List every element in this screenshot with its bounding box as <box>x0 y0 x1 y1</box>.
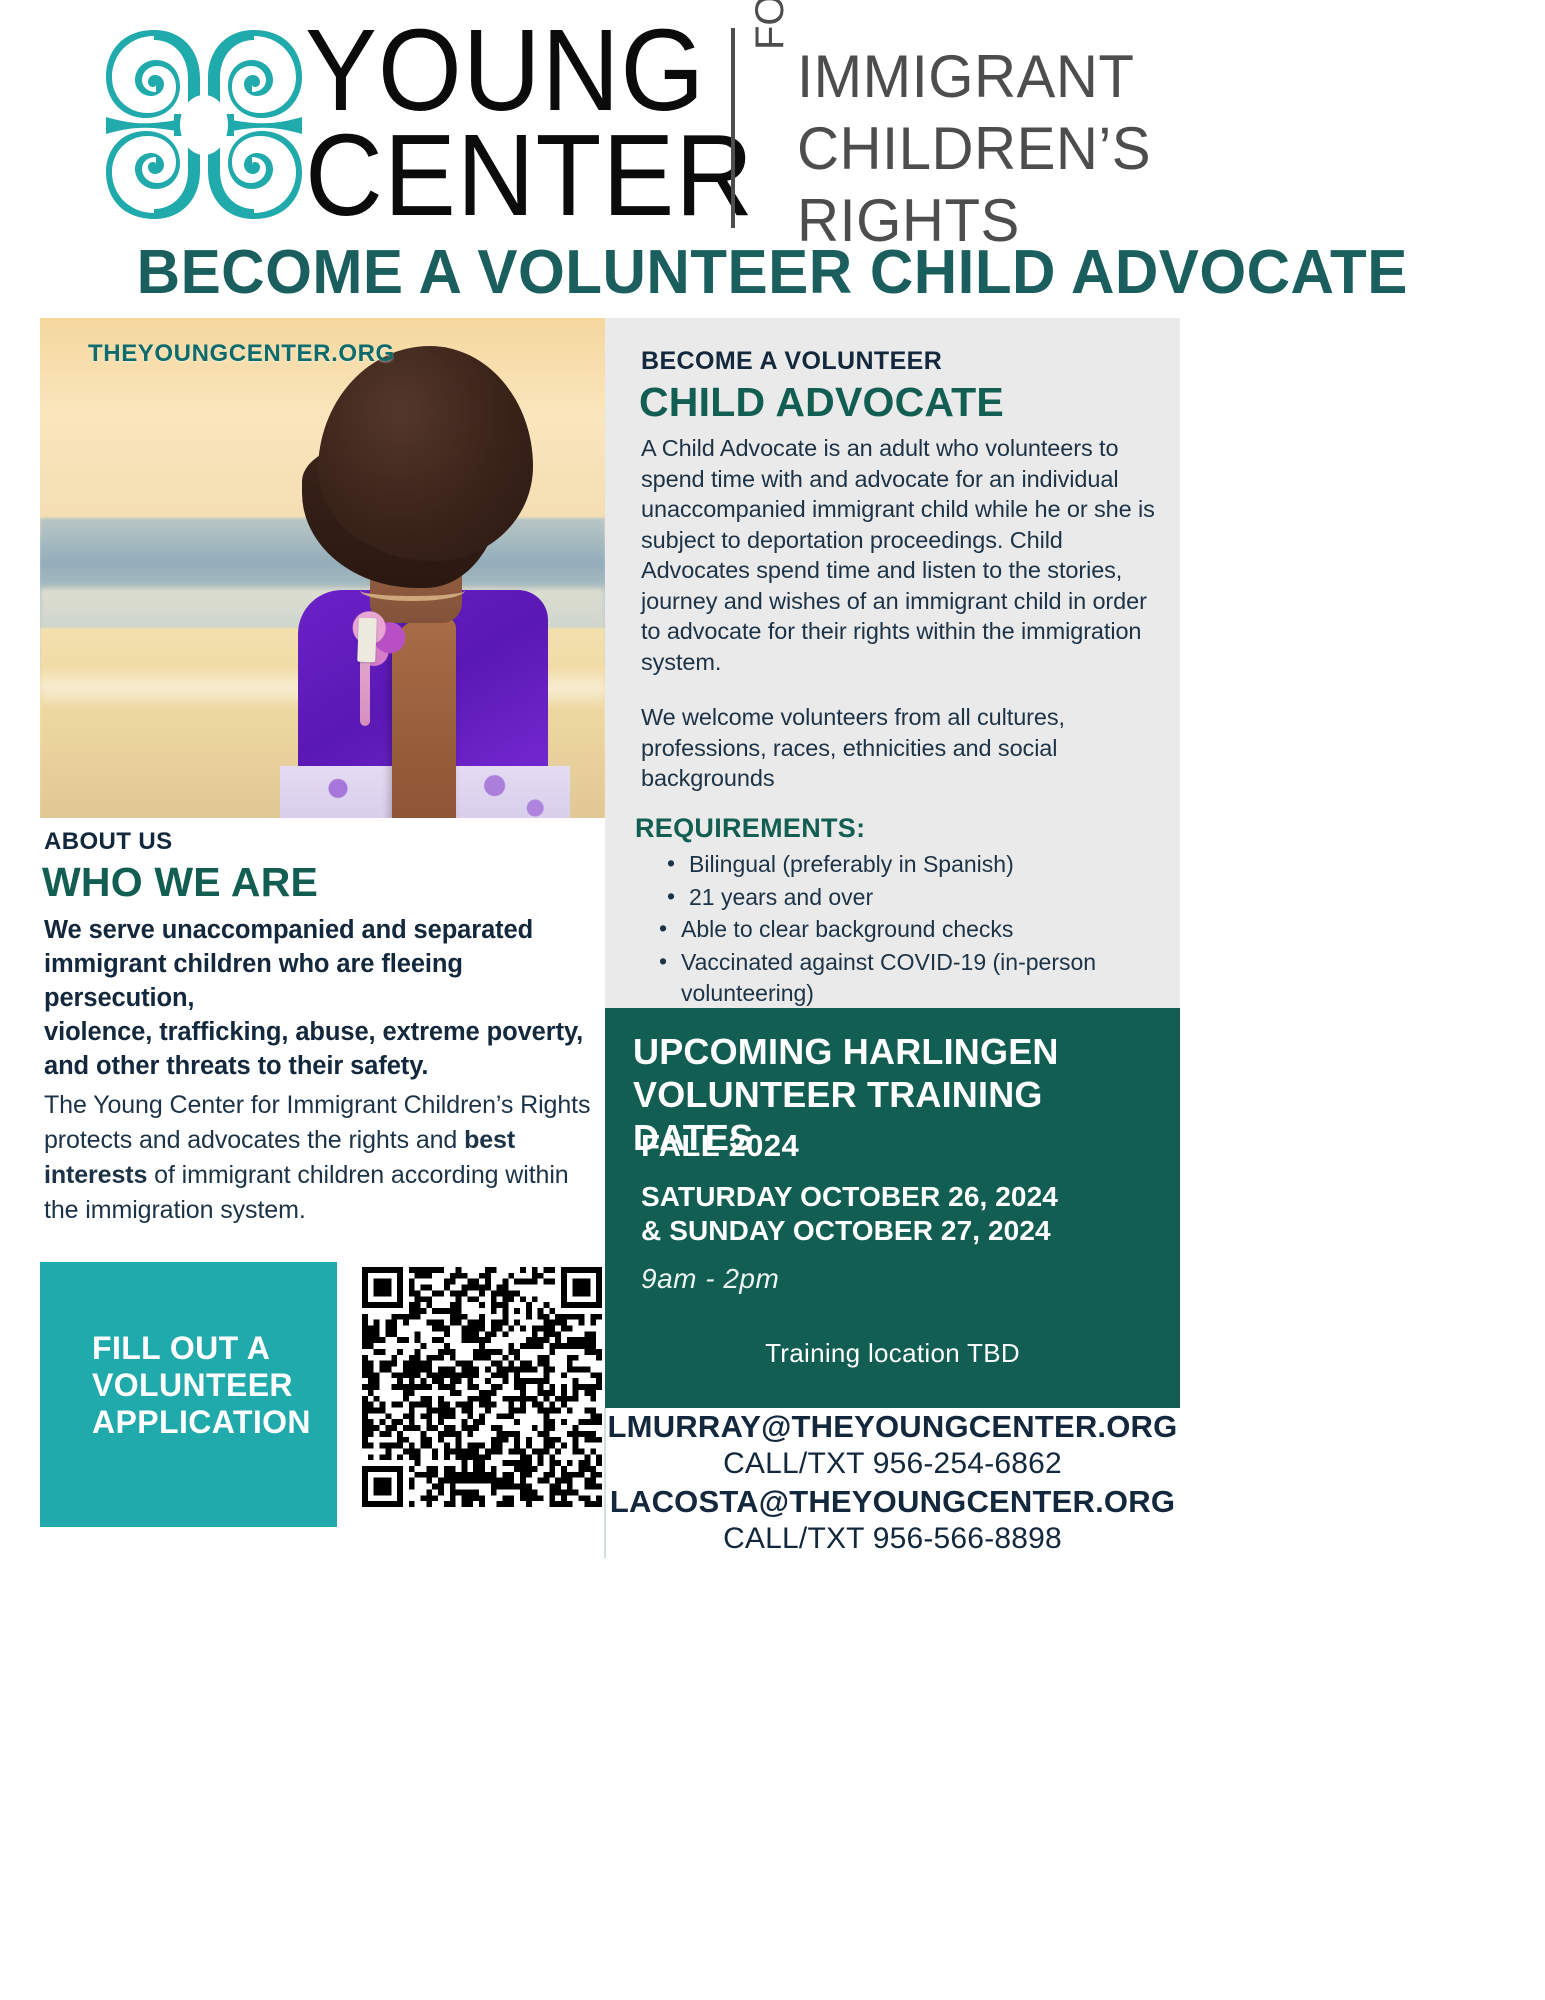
training-time: 9am - 2pm <box>641 1263 779 1295</box>
main-headline-text: BECOME A VOLUNTEER CHILD ADVOCATE <box>137 240 1408 306</box>
about-regular-text: The Young Center for Immigrant Children’… <box>44 1088 604 1228</box>
requirements-list: Bilingual (preferably in Spanish) 21 yea… <box>629 849 1204 1011</box>
volunteer-application-cta-label: FILL OUT A VOLUNTEER APPLICATION <box>92 1330 322 1441</box>
requirement-item: 21 years and over <box>659 882 1204 914</box>
advocate-body: A Child Advocate is an adult who volunte… <box>641 433 1161 819</box>
volunteer-application-cta[interactable]: FILL OUT A VOLUNTEER APPLICATION <box>40 1262 337 1527</box>
tagline-line-1: IMMIGRANT <box>797 46 1134 108</box>
requirement-item: Vaccinated against COVID-19 (in-person v… <box>659 947 1204 1010</box>
young-center-logo-four-spiral-adinkra-icon <box>104 22 304 227</box>
photo-child-dress-tag <box>357 618 377 663</box>
training-date-line-2: & SUNDAY OCTOBER 27, 2024 <box>641 1214 1161 1248</box>
training-dates-box: UPCOMING HARLINGEN VOLUNTEER TRAINING DA… <box>605 1008 1180 1408</box>
tagline-for-rotated: FOR <box>748 0 793 50</box>
brand-tagline: FOR IMMIGRANT CHILDREN’S RIGHTS <box>742 22 1162 232</box>
main-headline: BECOME A VOLUNTEER CHILD ADVOCATE <box>0 240 1545 306</box>
advocate-paragraph-2: We welcome volunteers from all cultures,… <box>641 702 1161 794</box>
brand-name-line2: CENTER <box>305 123 696 228</box>
child-advocate-panel: BECOME A VOLUNTEER CHILD ADVOCATE A Chil… <box>605 318 1180 1008</box>
logo-divider <box>731 28 735 228</box>
advocate-paragraph-1: A Child Advocate is an adult who volunte… <box>641 433 1161 677</box>
website-url-overlay: THEYOUNGCENTER.ORG <box>88 340 395 368</box>
requirement-item: Able to clear background checks <box>659 914 1204 946</box>
contact-phone-1[interactable]: CALL/TXT 956-254-6862 <box>605 1445 1180 1483</box>
brand-name-line1: YOUNG <box>305 18 696 123</box>
training-dates: SATURDAY OCTOBER 26, 2024 & SUNDAY OCTOB… <box>641 1180 1161 1248</box>
contact-email-2[interactable]: LACOSTA@THEYOUNGCENTER.ORG <box>605 1483 1180 1520</box>
brand-wordmark: YOUNG CENTER <box>305 18 725 233</box>
about-kicker: ABOUT US <box>44 828 173 856</box>
hero-photo: THEYOUNGCENTER.ORG <box>40 318 605 818</box>
requirement-item: Bilingual (preferably in Spanish) <box>659 849 1204 881</box>
advocate-kicker: BECOME A VOLUNTEER <box>641 347 942 376</box>
advocate-title: CHILD ADVOCATE <box>639 379 1004 426</box>
qr-code-icon[interactable] <box>362 1262 602 1512</box>
contact-email-1[interactable]: LMURRAY@THEYOUNGCENTER.ORG <box>605 1408 1180 1445</box>
tagline-line-2: CHILDREN’S <box>797 118 1151 180</box>
contact-block: LMURRAY@THEYOUNGCENTER.ORG CALL/TXT 956-… <box>605 1408 1180 1558</box>
about-title: WHO WE ARE <box>42 859 318 906</box>
requirements-title: REQUIREMENTS: <box>635 813 865 844</box>
about-bold-text: We serve unaccompanied and separated imm… <box>44 913 604 1083</box>
training-location: Training location TBD <box>605 1338 1180 1369</box>
contact-phone-2[interactable]: CALL/TXT 956-566-8898 <box>605 1520 1180 1558</box>
training-season: FALL 2024 <box>641 1128 799 1164</box>
training-date-line-1: SATURDAY OCTOBER 26, 2024 <box>641 1180 1161 1214</box>
